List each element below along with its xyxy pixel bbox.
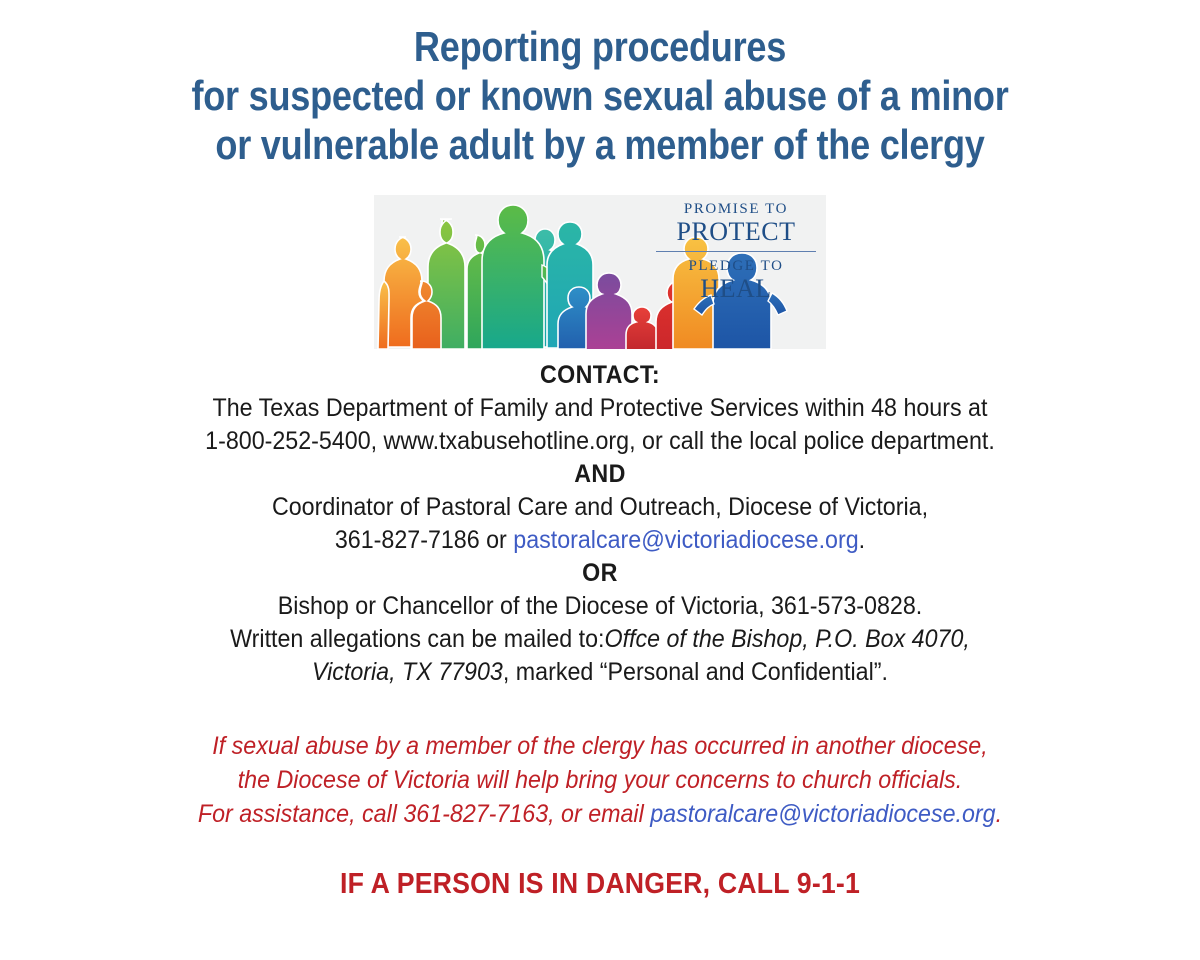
contact-line-4: 361-827-7186 or pastoralcare@victoriadio… [42,524,1158,557]
note-line-3: For assistance, call 361-827-7163, or em… [42,797,1158,831]
page-title: Reporting procedures for suspected or kn… [0,0,1200,169]
mail-address-line-1: Offce of the Bishop, P.O. Box 4070, [605,625,970,653]
contact-and-label: AND [42,458,1158,491]
contact-line-3: Coordinator of Pastoral Care and Outreac… [42,491,1158,524]
contact-line-5: Bishop or Chancellor of the Diocese of V… [42,590,1158,623]
other-diocese-note: If sexual abuse by a member of the clerg… [0,729,1200,831]
logo-divider [656,251,816,252]
logo-promise-big: PROTECT [652,218,820,246]
note-line-1: If sexual abuse by a member of the clerg… [42,729,1158,763]
assistance-phone: For assistance, call 361-827-7163, or em… [198,800,650,828]
coordinator-email-period: . [859,526,865,554]
coordinator-email-link[interactable]: pastoralcare@victoriadiocese.org [513,526,858,554]
contact-section: CONTACT: The Texas Department of Family … [0,359,1200,689]
contact-line-1: The Texas Department of Family and Prote… [42,392,1158,425]
mail-address-line-2: Victoria, TX 77903 [312,658,503,686]
assistance-email-period: . [996,800,1002,828]
logo-tagline: PROMISE TO PROTECT PLEDGE TO HEAL [652,201,820,303]
mail-marking-note: , marked “Personal and Confidential”. [503,658,888,686]
logo-pledge-small: PLEDGE TO [652,258,820,275]
contact-line-6: Written allegations can be mailed to:Off… [42,623,1158,656]
logo-container: PROMISE TO PROTECT PLEDGE TO HEAL [0,195,1200,349]
logo-promise-small: PROMISE TO [652,201,820,218]
contact-or-label: OR [42,557,1158,590]
page-title-line-2: for suspected or known sexual abuse of a… [84,71,1116,120]
coordinator-phone: 361-827-7186 or [335,526,513,554]
page-title-line-1: Reporting procedures [84,22,1116,71]
page-title-line-3: or vulnerable adult by a member of the c… [84,120,1116,169]
contact-line-7: Victoria, TX 77903, marked “Personal and… [42,656,1158,689]
emergency-notice: IF A PERSON IS IN DANGER, CALL 9-1-1 [0,867,1200,901]
contact-line-2: 1-800-252-5400, www.txabusehotline.org, … [42,425,1158,458]
logo-pledge-big: HEAL [652,275,820,303]
assistance-email-link[interactable]: pastoralcare@victoriadiocese.org [650,800,995,828]
contact-heading: CONTACT: [42,359,1158,392]
mail-instruction-prefix: Written allegations can be mailed to: [230,625,604,653]
emergency-call-911-text: IF A PERSON IS IN DANGER, CALL 9-1-1 [48,867,1152,901]
note-line-2: the Diocese of Victoria will help bring … [42,763,1158,797]
promise-to-protect-logo: PROMISE TO PROTECT PLEDGE TO HEAL [374,195,826,349]
